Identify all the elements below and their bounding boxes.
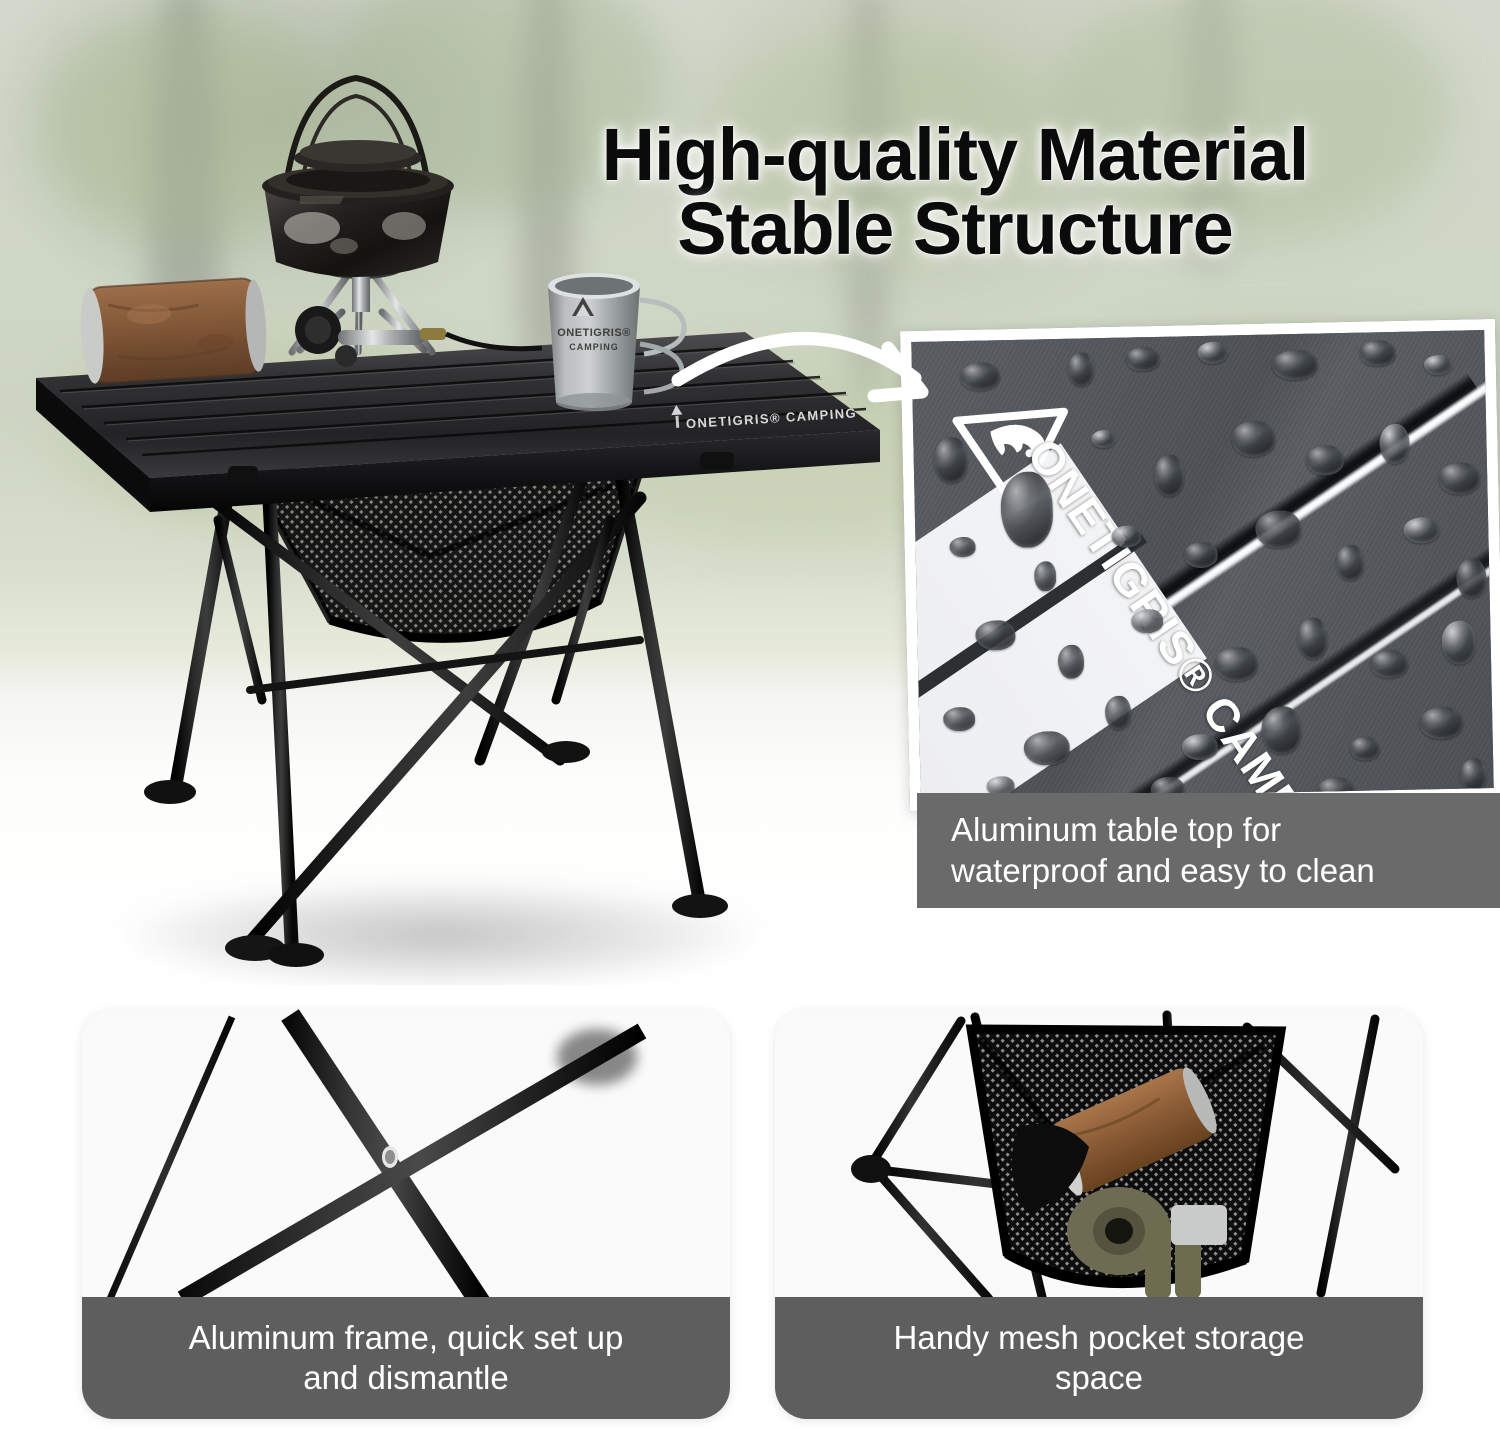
- water-droplet: [1306, 445, 1345, 476]
- water-droplet: [1261, 706, 1302, 755]
- water-droplet: [1058, 645, 1085, 680]
- water-droplet: [1182, 734, 1219, 761]
- water-droplet: [1184, 542, 1219, 569]
- svg-text:ONETIGRIS®: ONETIGRIS®: [557, 327, 631, 339]
- waterproof-caption-line-2: waterproof and easy to clean: [951, 851, 1375, 891]
- water-droplet: [1231, 420, 1276, 457]
- water-droplet: [1359, 340, 1396, 367]
- water-droplet: [1131, 609, 1163, 634]
- hero-section: ONETIGRIS® CAMPING: [0, 0, 1500, 985]
- mesh-pocket-photo: [775, 1009, 1423, 1309]
- water-droplet: [1456, 558, 1487, 599]
- water-droplet: [1091, 430, 1115, 448]
- water-droplet: [1000, 471, 1054, 548]
- water-droplet: [1379, 424, 1410, 465]
- water-droplet: [1255, 510, 1302, 549]
- water-droplet: [1272, 350, 1319, 381]
- frame-caption-line-2: and dismantle: [189, 1358, 624, 1398]
- mesh-pocket-caption: Handy mesh pocket storage space: [775, 1297, 1423, 1419]
- aluminum-frame-photo: [82, 1009, 730, 1309]
- water-droplet: [1034, 561, 1057, 591]
- water-droplet: [1297, 617, 1328, 660]
- frame-closeup-vector: [82, 1009, 730, 1309]
- mesh-caption-line-1: Handy mesh pocket storage: [894, 1318, 1305, 1358]
- feature-panel-aluminum-frame: Aluminum frame, quick set up and dismant…: [82, 1009, 730, 1419]
- water-droplet: [943, 707, 975, 732]
- water-droplet: [949, 537, 975, 558]
- svg-text:CAMPING: CAMPING: [569, 342, 619, 352]
- water-droplet: [1441, 620, 1476, 665]
- headline-line-2: Stable Structure: [460, 192, 1450, 266]
- water-droplet: [1068, 352, 1095, 387]
- aluminum-frame-caption: Aluminum frame, quick set up and dismant…: [82, 1297, 730, 1419]
- waterproof-caption: Aluminum table top for waterproof and ea…: [917, 793, 1500, 908]
- water-droplet: [1336, 545, 1365, 582]
- headline-line-1: High-quality Material: [602, 113, 1309, 196]
- water-droplet: [1403, 517, 1440, 544]
- water-droplet: [1438, 462, 1481, 495]
- water-droplet: [1154, 454, 1185, 497]
- feature-panel-mesh-pocket: Handy mesh pocket storage space: [775, 1009, 1423, 1419]
- mesh-caption-line-2: space: [894, 1358, 1305, 1398]
- water-droplet: [975, 620, 1016, 651]
- water-droplet: [1111, 525, 1141, 548]
- waterproof-caption-line-1: Aluminum table top for: [951, 810, 1375, 850]
- pointer-arrow: [660, 300, 1020, 450]
- water-droplet: [1350, 736, 1380, 761]
- water-droplet: [1460, 758, 1487, 793]
- water-droplet: [1105, 696, 1132, 731]
- water-droplet: [1197, 341, 1227, 364]
- water-droplet: [1370, 650, 1409, 679]
- water-droplet: [1023, 731, 1070, 766]
- water-droplet: [1419, 707, 1464, 740]
- frame-caption-line-1: Aluminum frame, quick set up: [189, 1318, 624, 1358]
- water-droplet: [1214, 647, 1259, 682]
- water-droplet: [1125, 347, 1159, 372]
- mesh-pocket-vector: [775, 1009, 1423, 1309]
- page-title: High-quality Material Stable Structure: [460, 118, 1450, 266]
- water-droplet: [1424, 355, 1452, 376]
